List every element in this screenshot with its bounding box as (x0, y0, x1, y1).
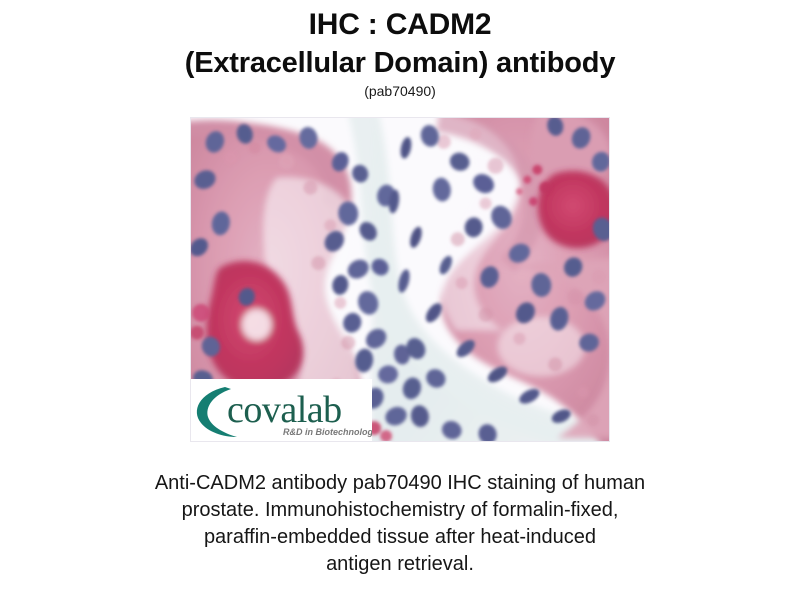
covalab-tagline: R&D in Biotechnology (283, 427, 372, 437)
page-title-line-1: IHC : CADM2 (0, 6, 800, 44)
covalab-logo: covalab R&D in Biotechnology (191, 379, 372, 442)
covalab-wordmark: covalab (227, 389, 342, 431)
micrograph-figure: covalab R&D in Biotechnology (190, 117, 610, 442)
figure-header: IHC : CADM2 (Extracellular Domain) antib… (0, 0, 800, 100)
page-title-line-2: (Extracellular Domain) antibody (0, 44, 800, 82)
catalog-number: (pab70490) (0, 83, 800, 100)
caption-line-1: Anti-CADM2 antibody pab70490 IHC stainin… (0, 470, 800, 497)
figure-caption: Anti-CADM2 antibody pab70490 IHC stainin… (0, 470, 800, 578)
caption-line-3: paraffin-embedded tissue after heat-indu… (0, 524, 800, 551)
caption-line-4: antigen retrieval. (0, 551, 800, 578)
covalab-watermark: covalab R&D in Biotechnology (191, 379, 372, 442)
micrograph-image: covalab R&D in Biotechnology (190, 117, 610, 442)
caption-line-2: prostate. Immunohistochemistry of formal… (0, 497, 800, 524)
